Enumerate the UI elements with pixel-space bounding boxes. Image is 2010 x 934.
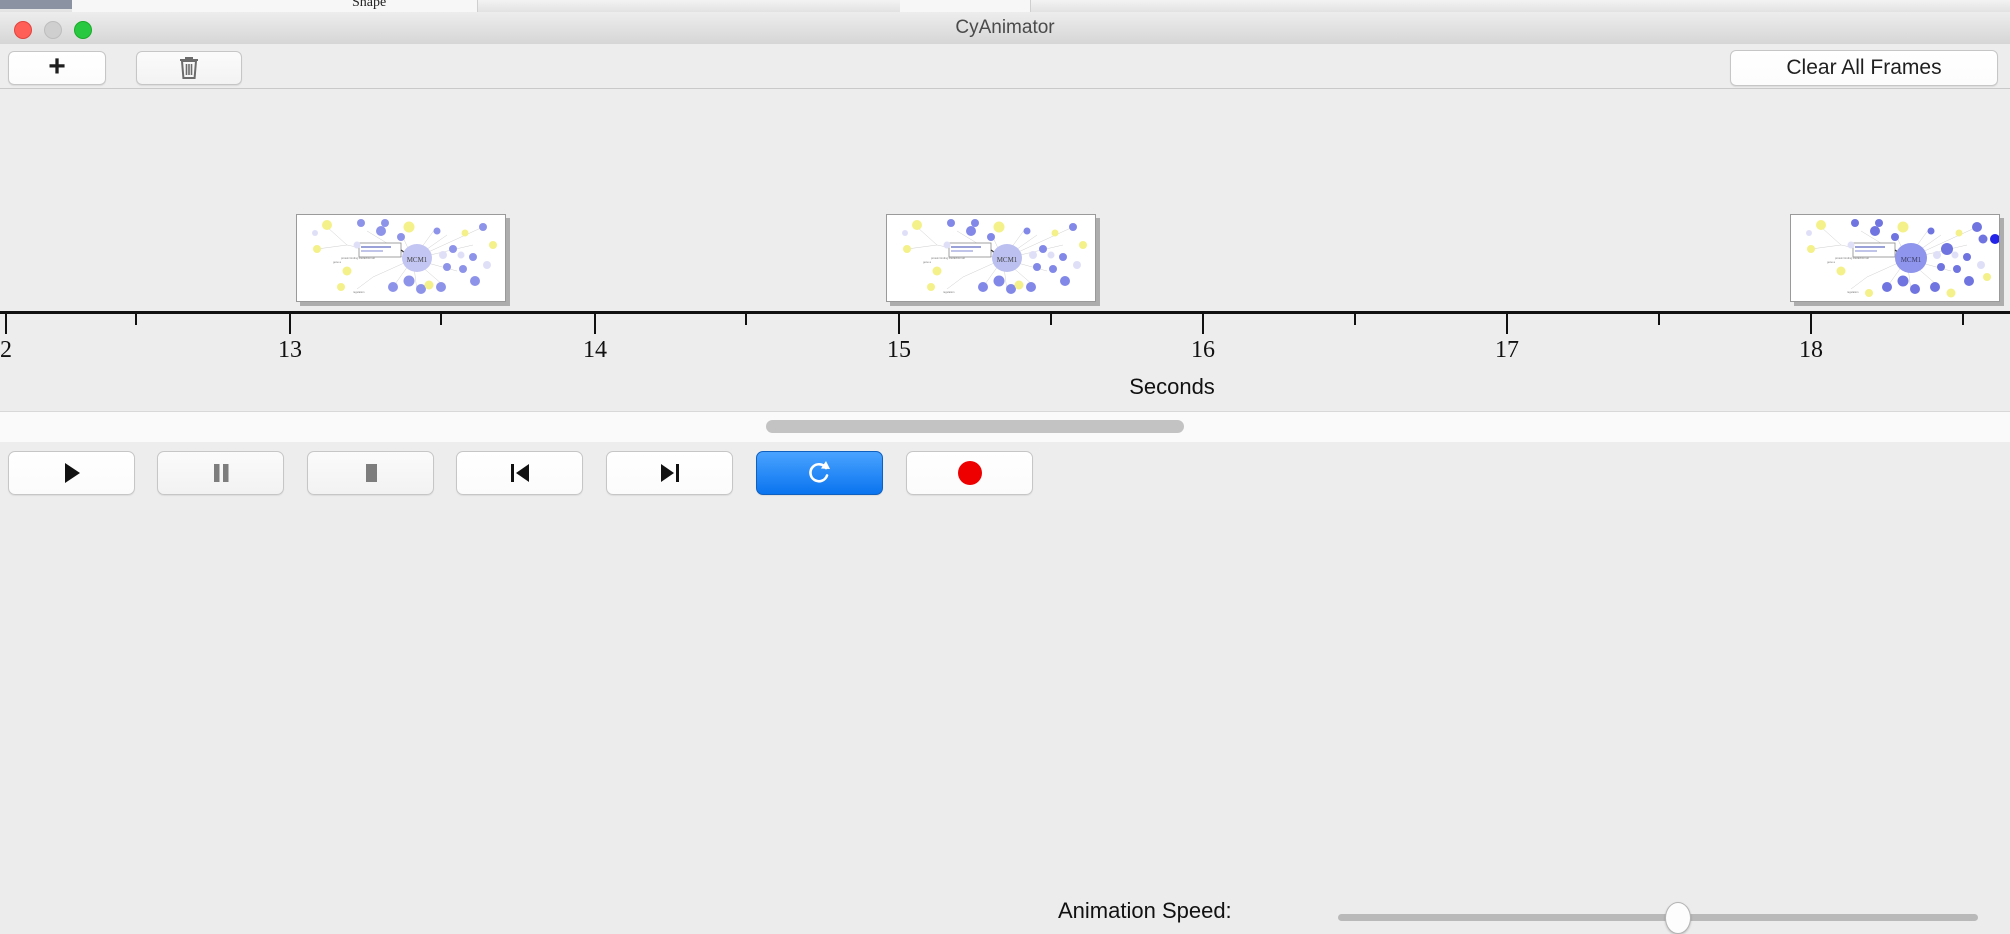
trash-icon <box>178 55 200 81</box>
svg-text:protein binding interaction se: protein binding interaction set <box>1835 256 1869 260</box>
transport-bar: Animation Speed: <box>0 442 2010 510</box>
ruler-tick-label: 16 <box>1191 337 1215 364</box>
loop-button[interactable] <box>756 451 883 495</box>
stop-button[interactable] <box>307 451 434 495</box>
background-window-strip: Shape <box>0 0 2010 12</box>
animation-speed-slider-thumb[interactable] <box>1665 902 1691 934</box>
plus-icon: + <box>48 52 66 82</box>
skip-to-start-button[interactable] <box>456 451 583 495</box>
ruler-tick-minor <box>440 314 442 325</box>
cyanimator-window: Shape CyAnimator + Clear All Frames <box>0 0 2010 510</box>
delete-frame-button[interactable] <box>136 51 242 85</box>
svg-text:MCM1: MCM1 <box>1901 256 1922 264</box>
scrollbar-thumb[interactable] <box>766 420 1184 433</box>
ruler-axis-title: Seconds <box>1129 374 1215 400</box>
animation-speed-slider[interactable] <box>1338 914 1978 921</box>
ruler-tick-major <box>1506 314 1508 334</box>
record-button[interactable] <box>906 451 1033 495</box>
pause-button[interactable] <box>157 451 284 495</box>
ruler-tick-major <box>898 314 900 334</box>
network-graph-preview: MCM1 <box>1791 215 1999 301</box>
network-graph-preview: MCM1 gene aregula <box>887 215 1095 301</box>
play-button[interactable] <box>8 451 135 495</box>
ruler-tick-minor <box>1354 314 1356 325</box>
ruler-axis-line <box>0 311 2010 314</box>
ruler-tick-major <box>289 314 291 334</box>
svg-text:regulation: regulation <box>1847 290 1859 294</box>
pause-icon <box>211 461 231 485</box>
ruler-tick-label: 13 <box>278 337 302 364</box>
ruler-tick-minor <box>745 314 747 325</box>
ruler-tick-minor <box>135 314 137 325</box>
timeline-scrollbar[interactable] <box>0 411 2010 443</box>
window-title: CyAnimator <box>0 12 2010 44</box>
timeline-frame-thumbnail[interactable]: MCM1 gene aregula <box>886 214 1096 302</box>
svg-text:gene a: gene a <box>1827 261 1835 264</box>
svg-text:gene a: gene a <box>333 261 341 264</box>
clear-all-frames-label: Clear All Frames <box>1786 56 1941 80</box>
svg-text:regulation: regulation <box>943 290 955 294</box>
network-graph-preview: MCM1 gene aregula <box>297 215 505 301</box>
ruler-tick-label: 15 <box>887 337 911 364</box>
background-window-label: Shape <box>352 0 386 11</box>
loop-icon <box>807 459 833 487</box>
play-icon <box>61 461 83 485</box>
timeline-ruler[interactable]: 2 13 14 15 16 17 18 Seconds <box>0 311 2010 411</box>
toolbar: + Clear All Frames <box>0 44 2010 89</box>
ruler-tick-label: 17 <box>1495 337 1519 364</box>
stop-icon <box>361 461 381 485</box>
skip-back-icon <box>507 461 533 485</box>
ruler-tick-minor <box>1050 314 1052 325</box>
ruler-tick-major <box>594 314 596 334</box>
timeline-frame-thumbnail[interactable]: MCM1 gene aregula <box>296 214 506 302</box>
ruler-tick-label: 2 <box>0 337 12 364</box>
skip-to-end-button[interactable] <box>606 451 733 495</box>
svg-text:protein binding interaction se: protein binding interaction set <box>931 256 965 260</box>
add-frame-button[interactable]: + <box>8 51 106 85</box>
ruler-tick-minor <box>1962 314 1964 325</box>
ruler-tick-major <box>1202 314 1204 334</box>
timeline-panel[interactable]: MCM1 gene aregula <box>0 89 2010 411</box>
ruler-tick-major <box>1810 314 1812 334</box>
svg-text:MCM1: MCM1 <box>997 256 1018 264</box>
background-window-tab <box>0 0 72 9</box>
ruler-tick-label: 18 <box>1799 337 1823 364</box>
ruler-tick-major <box>5 314 7 334</box>
title-bar: CyAnimator <box>0 12 2010 45</box>
svg-text:protein binding interaction se: protein binding interaction set <box>341 256 375 260</box>
skip-forward-icon <box>657 461 683 485</box>
svg-text:MCM1: MCM1 <box>407 256 428 264</box>
ruler-tick-label: 14 <box>583 337 607 364</box>
animation-speed-label: Animation Speed: <box>1058 898 1232 924</box>
svg-text:regulation: regulation <box>353 290 365 294</box>
ruler-tick-minor <box>1658 314 1660 325</box>
svg-text:gene a: gene a <box>923 261 931 264</box>
scrollbar-track[interactable] <box>0 412 2010 440</box>
record-icon <box>958 461 982 485</box>
timeline-frame-thumbnail[interactable]: MCM1 <box>1790 214 2000 302</box>
clear-all-frames-button[interactable]: Clear All Frames <box>1730 50 1998 86</box>
